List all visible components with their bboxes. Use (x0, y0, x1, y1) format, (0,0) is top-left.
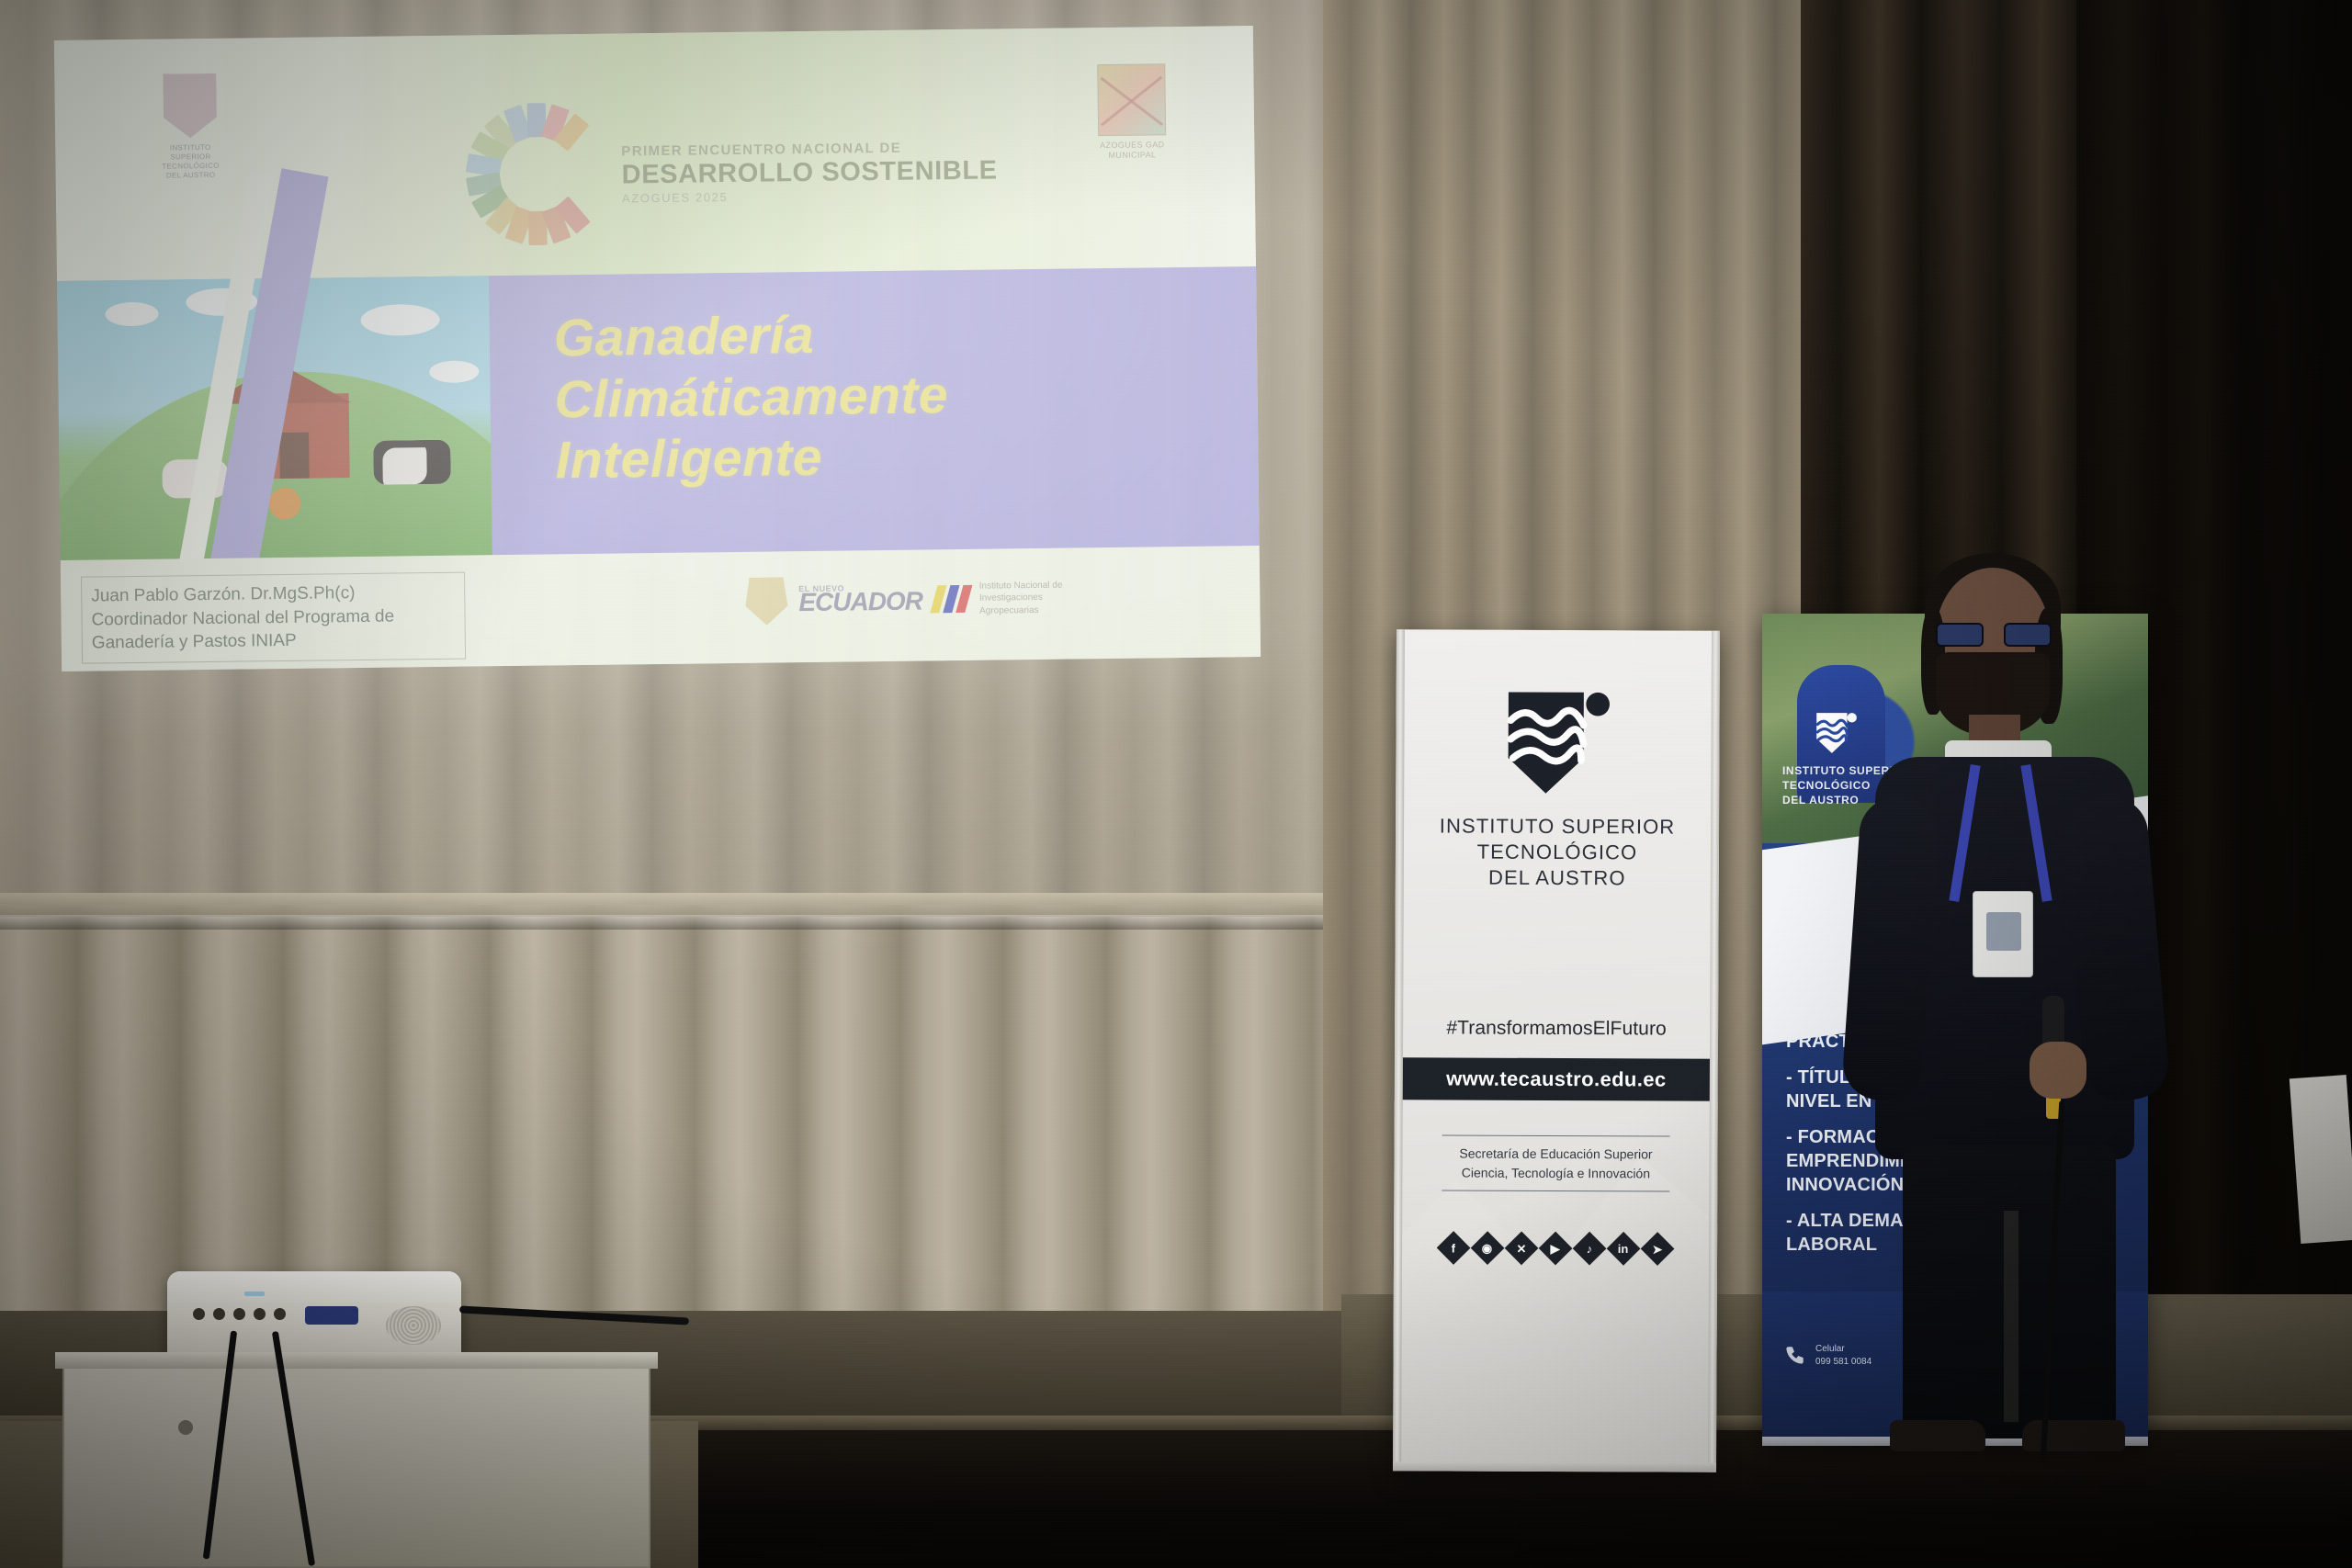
cow-shape (373, 440, 451, 485)
facebook-glyph: f (1452, 1242, 1455, 1254)
banner-base-foot (1393, 1461, 1720, 1472)
shield-icon (163, 73, 217, 139)
cloth-seam (0, 915, 1406, 930)
shoe-left (1890, 1420, 1985, 1451)
x-twitter-icon[interactable]: ✕ (1505, 1231, 1539, 1265)
event-title-block: PRIMER ENCUENTRO NACIONAL DE DESARROLLO … (621, 139, 998, 205)
ministry-line-1: Secretaría de Educación Superior (1442, 1144, 1669, 1164)
instagram-glyph: ◉ (1482, 1242, 1492, 1254)
banner-social-icons: f ◉ ✕ ▶ ♪ in ➤ (1394, 1235, 1717, 1261)
tiktok-icon[interactable]: ♪ (1573, 1232, 1607, 1266)
ecuador-government-logo: EL NUEVO ECUADOR Instituto Nacional de I… (745, 573, 1099, 626)
instagram-icon[interactable]: ◉ (1471, 1231, 1505, 1265)
sdg-event-logo: PRIMER ENCUENTRO NACIONAL DE DESARROLLO … (459, 85, 1031, 267)
slide-header-band: INSTITUTO SUPERIOR TECNOLÓGICO DEL AUSTR… (54, 26, 1256, 287)
ecuador-coat-of-arms-icon (745, 577, 788, 626)
banner-name-line-2: TECNOLÓGICO (1396, 839, 1719, 866)
tecaustro-shield-logo-icon (1498, 685, 1617, 804)
leg-separation (2004, 1211, 2018, 1422)
tiktok-glyph: ♪ (1587, 1243, 1593, 1255)
projector-ports (193, 1308, 286, 1320)
equipment-cart (62, 1363, 650, 1568)
cart-top-surface (55, 1352, 658, 1369)
ecuador-flag-stripes-icon (930, 585, 972, 614)
iniap-caption: Instituto Nacional de Investigaciones Ag… (979, 579, 1099, 617)
sdg-wheel-icon (459, 96, 616, 253)
crest-icon (1097, 63, 1166, 136)
banner-name-line-1: INSTITUTO SUPERIOR (1396, 813, 1719, 840)
conference-stage-photo: INSTITUTO SUPERIOR TECNOLÓGICO DEL AUSTR… (0, 0, 2352, 1568)
banner-institute-name: INSTITUTO SUPERIOR TECNOLÓGICO DEL AUSTR… (1396, 813, 1719, 892)
event-line3: AZOGUES 2025 (622, 187, 998, 206)
linkedin-icon[interactable]: in (1607, 1232, 1641, 1266)
presenter-credit-box: Juan Pablo Garzón. Dr.MgS.Ph(c) Coordina… (81, 572, 466, 664)
chicken-shape (269, 488, 300, 519)
facebook-icon[interactable]: f (1437, 1231, 1471, 1265)
glasses-icon (1936, 623, 2052, 647)
slide-title-band: Ganadería Climáticamente Inteligente (57, 266, 1260, 568)
banner-ministry-text: Secretaría de Educación Superior Ciencia… (1442, 1134, 1669, 1191)
iniap-line-2: Investigaciones Agropecuarias (979, 591, 1099, 617)
phone-icon (1782, 1344, 1806, 1368)
event-line2: DESARROLLO SOSTENIBLE (622, 156, 998, 188)
tecaustro-logo-slide: INSTITUTO SUPERIOR TECNOLÓGICO DEL AUSTR… (153, 73, 226, 181)
telegram-glyph: ➤ (1653, 1243, 1663, 1255)
cloud-shape (105, 302, 158, 327)
side-table-edge (2290, 1075, 2352, 1244)
cart-knob (178, 1420, 193, 1435)
rollup-banner-tecaustro: INSTITUTO SUPERIOR TECNOLÓGICO DEL AUSTR… (1393, 629, 1720, 1472)
title-line-1: Ganadería (553, 300, 1202, 369)
projector-vent-grill (386, 1306, 441, 1345)
vga-port (305, 1306, 358, 1325)
ecuador-wordmark: EL NUEVO ECUADOR (798, 582, 922, 617)
youtube-glyph: ▶ (1551, 1242, 1560, 1254)
presentation-slide: INSTITUTO SUPERIOR TECNOLÓGICO DEL AUSTR… (54, 26, 1261, 671)
banner-website-url[interactable]: www.tecaustro.edu.ec (1395, 1057, 1718, 1101)
projector (167, 1271, 461, 1359)
id-badge (1973, 891, 2033, 977)
ecuador-word: ECUADOR (798, 586, 922, 616)
title-line-2: Climáticamente (554, 361, 1203, 430)
slide-main-title: Ganadería Climáticamente Inteligente (553, 300, 1203, 492)
azogues-city-logo: AZOGUES GAD MUNICIPAL (1080, 63, 1182, 161)
youtube-icon[interactable]: ▶ (1539, 1232, 1573, 1266)
shoe-right (2022, 1420, 2125, 1451)
banner-name-line-3: DEL AUSTRO (1396, 865, 1719, 893)
hand-shape (2030, 1042, 2086, 1099)
title-line-3: Inteligente (555, 423, 1204, 491)
cloud-shape (429, 360, 479, 383)
credit-line-3: Ganadería y Pastos INIAP (92, 627, 456, 655)
cloth-tape-seam (0, 893, 1406, 917)
azogues-logo-caption: AZOGUES GAD MUNICIPAL (1081, 140, 1182, 161)
slide-footer-band: Juan Pablo Garzón. Dr.MgS.Ph(c) Coordina… (61, 546, 1261, 671)
barn-door-shape (279, 433, 310, 479)
banner-hashtag: #TransformamosElFuturo (1395, 1017, 1718, 1041)
linkedin-glyph: in (1618, 1243, 1629, 1255)
projection-screen: INSTITUTO SUPERIOR TECNOLÓGICO DEL AUSTR… (54, 26, 1261, 671)
projector-top-shell (167, 1271, 461, 1303)
tecaustro-logo-caption: INSTITUTO SUPERIOR TECNOLÓGICO DEL AUSTR… (154, 143, 226, 181)
presenter-speaker (1833, 568, 2182, 1468)
telegram-icon[interactable]: ➤ (1641, 1232, 1675, 1266)
projector-status-led (244, 1292, 265, 1296)
ministry-line-2: Ciencia, Tecnología e Innovación (1442, 1163, 1669, 1183)
cloud-shape (360, 304, 439, 336)
x-glyph: ✕ (1517, 1242, 1527, 1254)
